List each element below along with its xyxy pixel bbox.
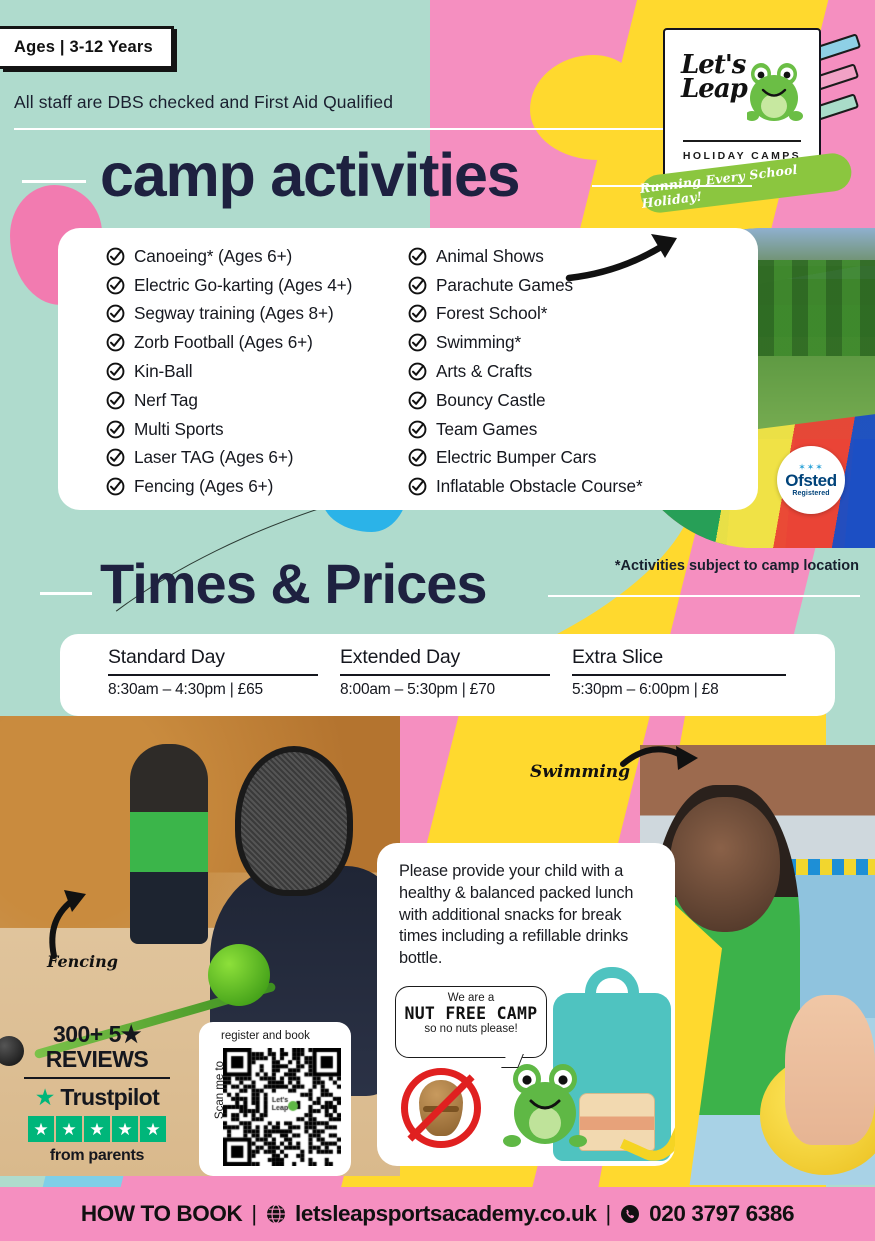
photo-label-swimming: Swimming [530,762,630,782]
check-circle-icon [408,362,427,381]
check-circle-icon [106,420,125,439]
check-circle-icon [106,304,125,323]
check-circle-icon [408,247,427,266]
price-option-standard: Standard Day 8:30am – 4:30pm | £65 [108,646,318,699]
ages-badge: Ages | 3-12 Years [0,26,174,69]
logo-wordmark-line2: Leap [681,78,747,102]
activity-item: Zorb Football (Ages 6+) [106,328,352,357]
arrow-to-fencing-icon [42,888,98,960]
dbs-statement: All staff are DBS checked and First Aid … [14,92,393,113]
phone-number[interactable]: 020 3797 6386 [649,1201,794,1227]
reviews-source: from parents [24,1147,170,1165]
price-divider [340,674,550,676]
trustpilot-star-box: ★ [84,1116,110,1142]
activities-column-left: Canoeing* (Ages 6+)Electric Go-karting (… [106,242,352,501]
check-circle-icon [106,362,125,381]
check-circle-icon [408,420,427,439]
check-circle-icon [106,333,125,352]
reviews-count: 300+ 5★ [24,1022,170,1047]
flyer-page: Ages | 3-12 Years All staff are DBS chec… [0,0,875,1241]
heading-dash-left [22,180,86,183]
logo-wordmark: Let's Leap [681,54,747,102]
activity-item: Bouncy Castle [408,386,643,415]
globe-icon [266,1204,286,1224]
activity-item: Forest School* [408,300,643,329]
photo-pool-coach-head [670,797,780,932]
price-option-name: Extra Slice [572,646,786,669]
activity-label: Electric Bumper Cars [436,447,596,468]
check-circle-icon [106,391,125,410]
price-option-name: Extended Day [340,646,550,669]
times-dash-left [40,592,92,595]
trustpilot-star-box: ★ [140,1116,166,1142]
page-title-activities: camp activities [100,145,519,206]
frog-mascot-icon [503,1061,589,1153]
website-url[interactable]: letsleapsportsacademy.co.uk [295,1201,596,1227]
qr-title: register and book [221,1030,310,1042]
qr-code[interactable] [223,1048,341,1166]
page-title-times: Times & Prices [100,556,487,612]
trustpilot-star-box: ★ [112,1116,138,1142]
no-nuts-icon [401,1068,481,1148]
ofsted-badge: ✶✶✶ Ofsted Registered [777,446,845,514]
ofsted-registered-label: Registered [792,490,829,497]
times-dash-right [548,595,860,597]
check-circle-icon [106,448,125,467]
footer-separator-1: | [251,1201,257,1227]
check-circle-icon [408,391,427,410]
photo-label-fencing: Fencing [47,952,118,971]
activity-label: Swimming* [436,332,521,353]
activity-label: Electric Go-karting (Ages 4+) [134,275,352,296]
activity-item: Inflatable Obstacle Course* [408,472,643,501]
nut-free-line1: We are a [396,992,546,1004]
activity-item: Fencing (Ages 6+) [106,472,352,501]
price-divider [108,674,318,676]
price-divider [572,674,786,676]
trustpilot-star-box: ★ [28,1116,54,1142]
check-circle-icon [408,333,427,352]
activity-item: Electric Bumper Cars [408,444,643,473]
photo-pool-child [785,995,875,1145]
photo-hall-coach [130,744,208,944]
activity-item: Electric Go-karting (Ages 4+) [106,271,352,300]
activity-item: Laser TAG (Ages 6+) [106,444,352,473]
nut-free-line3: so no nuts please! [396,1023,546,1035]
trustpilot-wordmark: Trustpilot [60,1084,159,1111]
trustpilot-star-icon: ★ [35,1086,56,1109]
price-option-extended: Extended Day 8:00am – 5:30pm | £70 [340,646,550,699]
check-circle-icon [408,276,427,295]
frog-icon [747,60,807,126]
price-option-detail: 5:30pm – 6:00pm | £8 [572,681,786,699]
lunch-instructions: Please provide your child with a healthy… [399,861,654,970]
check-circle-icon [408,448,427,467]
activity-item: Multi Sports [106,415,352,444]
price-option-detail: 8:00am – 5:30pm | £70 [340,681,550,699]
activity-item: Kin-Ball [106,357,352,386]
activity-label: Animal Shows [436,246,544,267]
check-circle-icon [106,477,125,496]
activity-label: Zorb Football (Ages 6+) [134,332,313,353]
heading-dash-right [592,185,752,187]
activity-label: Bouncy Castle [436,390,546,411]
activity-label: Multi Sports [134,419,224,440]
trustpilot-rating: ★★★★★ [24,1116,170,1142]
ofsted-label: Ofsted [785,472,836,490]
trustpilot-logo: ★ Trustpilot [24,1084,170,1111]
photo-swimming [640,745,875,1185]
how-to-book-label: HOW TO BOOK [81,1201,242,1227]
price-option-detail: 8:30am – 4:30pm | £65 [108,681,318,699]
footer-separator-2: | [605,1201,611,1227]
header-rule [14,128,774,130]
activity-item: Segway training (Ages 8+) [106,300,352,329]
activity-item: Arts & Crafts [408,357,643,386]
price-option-name: Standard Day [108,646,318,669]
activity-label: Team Games [436,419,537,440]
photo-hall-guard [208,944,270,1006]
activity-item: Nerf Tag [106,386,352,415]
check-circle-icon [106,247,125,266]
activity-label: Nerf Tag [134,390,198,411]
check-circle-icon [408,477,427,496]
activities-disclaimer: *Activities subject to camp location [615,558,859,574]
activity-label: Laser TAG (Ages 6+) [134,447,293,468]
check-circle-icon [106,276,125,295]
arrow-to-swimming-icon [620,742,706,784]
logo-tabs [812,36,872,148]
nut-free-badge: We are a NUT FREE CAMP so no nuts please… [395,986,547,1058]
activity-label: Segway training (Ages 8+) [134,303,334,324]
activity-label: Arts & Crafts [436,361,532,382]
logo-divider [683,140,801,142]
trustpilot-star-box: ★ [56,1116,82,1142]
photo-hall-fencing-mask [235,746,353,896]
qr-card[interactable]: register and book Scan me to [199,1022,351,1176]
prices-card: Standard Day 8:30am – 4:30pm | £65 Exten… [60,634,835,716]
lunchbag-handle [585,967,639,1007]
footer-bar: HOW TO BOOK | letsleapsportsacademy.co.u… [0,1187,875,1241]
activity-item: Swimming* [408,328,643,357]
activity-label: Kin-Ball [134,361,192,382]
nut-free-line2: NUT FREE CAMP [396,1004,546,1023]
lunch-info-card: Please provide your child with a healthy… [377,843,675,1166]
reviews-word: REVIEWS [24,1047,170,1071]
activity-label: Forest School* [436,303,547,324]
activity-label: Inflatable Obstacle Course* [436,476,643,497]
check-circle-icon [408,304,427,323]
activity-item: Canoeing* (Ages 6+) [106,242,352,271]
phone-icon [620,1204,640,1224]
activity-item: Team Games [408,415,643,444]
price-option-extra-slice: Extra Slice 5:30pm – 6:00pm | £8 [572,646,786,699]
activity-label: Fencing (Ages 6+) [134,476,273,497]
arrow-to-parachute-icon [565,228,695,284]
activity-label: Parachute Games [436,275,573,296]
activity-label: Canoeing* (Ages 6+) [134,246,292,267]
reviews-divider [24,1077,170,1079]
reviews-block: 300+ 5★ REVIEWS ★ Trustpilot ★★★★★ from … [24,1022,170,1165]
